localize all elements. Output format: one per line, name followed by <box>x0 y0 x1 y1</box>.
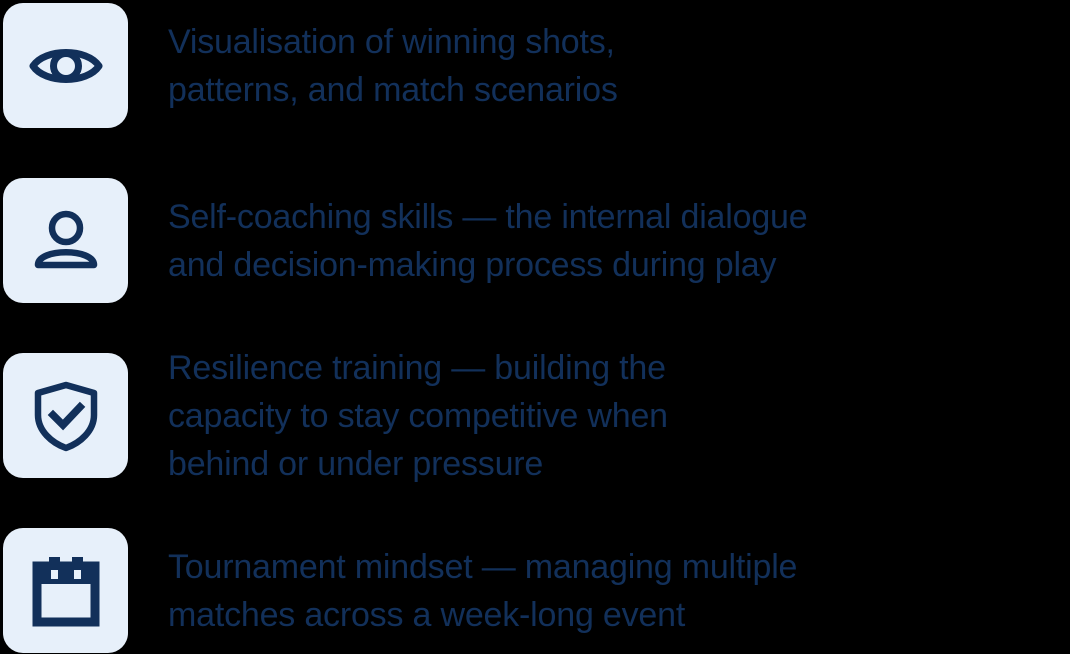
eye-icon <box>29 29 103 103</box>
shield-check-icon-tile <box>3 353 128 478</box>
calendar-icon-tile <box>3 528 128 653</box>
calendar-icon <box>29 554 103 628</box>
person-icon <box>29 204 103 278</box>
feature-list: Visualisation of winning shots, patterns… <box>0 0 1070 654</box>
feature-text: Visualisation of winning shots, patterns… <box>168 18 618 114</box>
shield-check-icon <box>29 379 103 453</box>
feature-text: Self-coaching skills — the internal dial… <box>168 193 807 289</box>
feature-text: Tournament mindset — managing multiple m… <box>168 543 797 639</box>
feature-item: Tournament mindset — managing multiple m… <box>3 528 1070 653</box>
feature-text: Resilience training — building the capac… <box>168 344 668 488</box>
feature-item: Resilience training — building the capac… <box>3 353 1070 478</box>
feature-item: Visualisation of winning shots, patterns… <box>3 3 1070 128</box>
person-icon-tile <box>3 178 128 303</box>
eye-icon-tile <box>3 3 128 128</box>
feature-item: Self-coaching skills — the internal dial… <box>3 178 1070 303</box>
